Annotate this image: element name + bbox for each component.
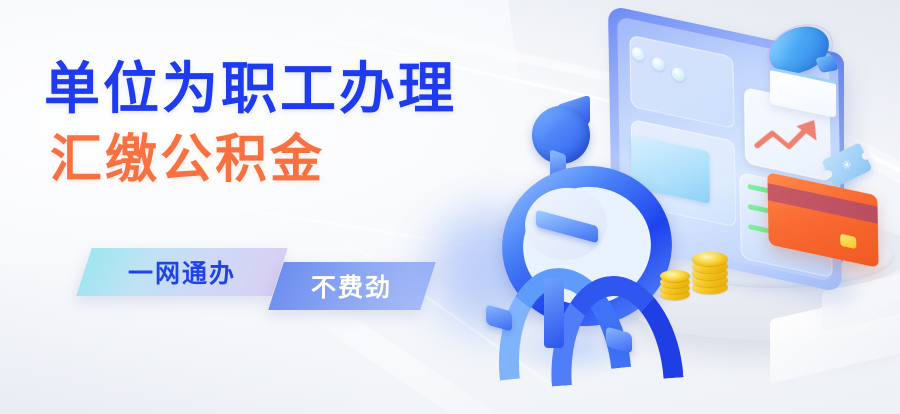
credit-card-stripe [768, 183, 878, 224]
figure-center-leg [544, 278, 564, 348]
coin [660, 270, 690, 282]
coin-stacks [660, 244, 750, 296]
person-figure [480, 100, 670, 360]
illustration: ✳ [470, 0, 900, 414]
ticket-glyph: ✳ [838, 156, 857, 175]
badge-yiwangtongban[interactable]: 一网通办 [76, 248, 288, 296]
headline-line-2: 汇缴公积金 [50, 134, 514, 186]
headline-line-1: 单位为职工办理 [44, 62, 514, 118]
badge-bufeijin[interactable]: 不费劲 [268, 262, 436, 310]
credit-card-chip [840, 234, 856, 249]
headline-block: 单位为职工办理 汇缴公积金 [44, 62, 514, 186]
badge-group: 一网通办 不费劲 [62, 248, 428, 310]
badge-label: 一网通办 [128, 254, 236, 290]
badge-label: 不费劲 [311, 268, 392, 304]
coin [692, 252, 728, 266]
promo-banner: 单位为职工办理 汇缴公积金 一网通办 不费劲 [0, 0, 900, 414]
